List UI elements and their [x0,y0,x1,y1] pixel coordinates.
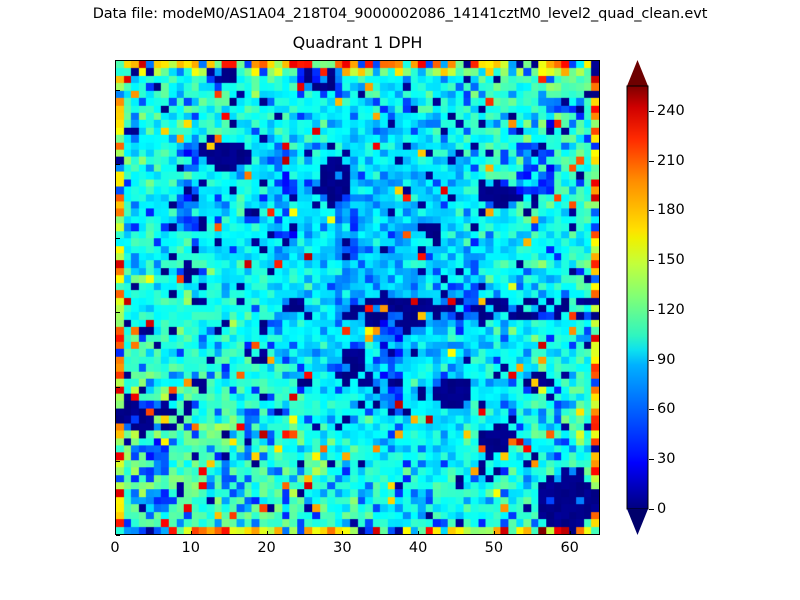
page-title: Quadrant 1 DPH [115,33,600,52]
x-tick-mark [418,531,419,535]
y-tick-mark [116,461,120,462]
colorbar-tick-mark [649,111,654,112]
y-tick-mark [116,535,120,536]
figure-canvas: Data file: modeM0/AS1A04_218T04_90000020… [0,0,800,600]
colorbar-tick-label: 180 [657,202,685,218]
colorbar-tick-label: 150 [657,252,685,268]
x-tick-label: 60 [560,540,578,556]
colorbar-extend-bottom-arrow [627,509,648,535]
colorbar-tick-label: 30 [657,451,675,467]
x-tick-mark [191,531,192,535]
heatmap-axes[interactable] [115,60,600,535]
y-tick-mark [116,312,120,313]
colorbar-tick-mark [649,260,654,261]
colorbar-tick-mark [649,210,654,211]
x-tick-mark [570,531,571,535]
x-tick-label: 40 [409,540,427,556]
colorbar-tick-label: 60 [657,401,675,417]
colorbar-extend-top-arrow [627,60,648,86]
x-tick-mark [494,531,495,535]
colorbar[interactable] [626,60,649,535]
x-tick-label: 10 [182,540,200,556]
colorbar-tick-mark [649,360,654,361]
x-tick-label: 0 [110,540,119,556]
colorbar-tick-label: 120 [657,302,685,318]
colorbar-tick-label: 210 [657,153,685,169]
x-tick-label: 50 [485,540,503,556]
x-tick-label: 20 [257,540,275,556]
x-tick-mark [267,531,268,535]
colorbar-tick-mark [649,409,654,410]
colorbar-gradient [626,60,649,535]
colorbar-tick-mark [649,310,654,311]
colorbar-tick-mark [649,161,654,162]
y-tick-mark [116,238,120,239]
colorbar-tick-mark [649,459,654,460]
colorbar-tick-label: 90 [657,352,675,368]
y-tick-mark [116,90,120,91]
y-tick-mark [116,164,120,165]
y-tick-mark [116,387,120,388]
colorbar-tick-mark [649,509,654,510]
dph-heatmap-image[interactable] [116,61,599,534]
x-tick-mark [342,531,343,535]
x-tick-label: 30 [333,540,351,556]
colorbar-tick-label: 240 [657,103,685,119]
data-file-suptitle: Data file: modeM0/AS1A04_218T04_90000020… [0,6,800,22]
colorbar-body [627,86,648,509]
colorbar-tick-label: 0 [657,501,666,517]
